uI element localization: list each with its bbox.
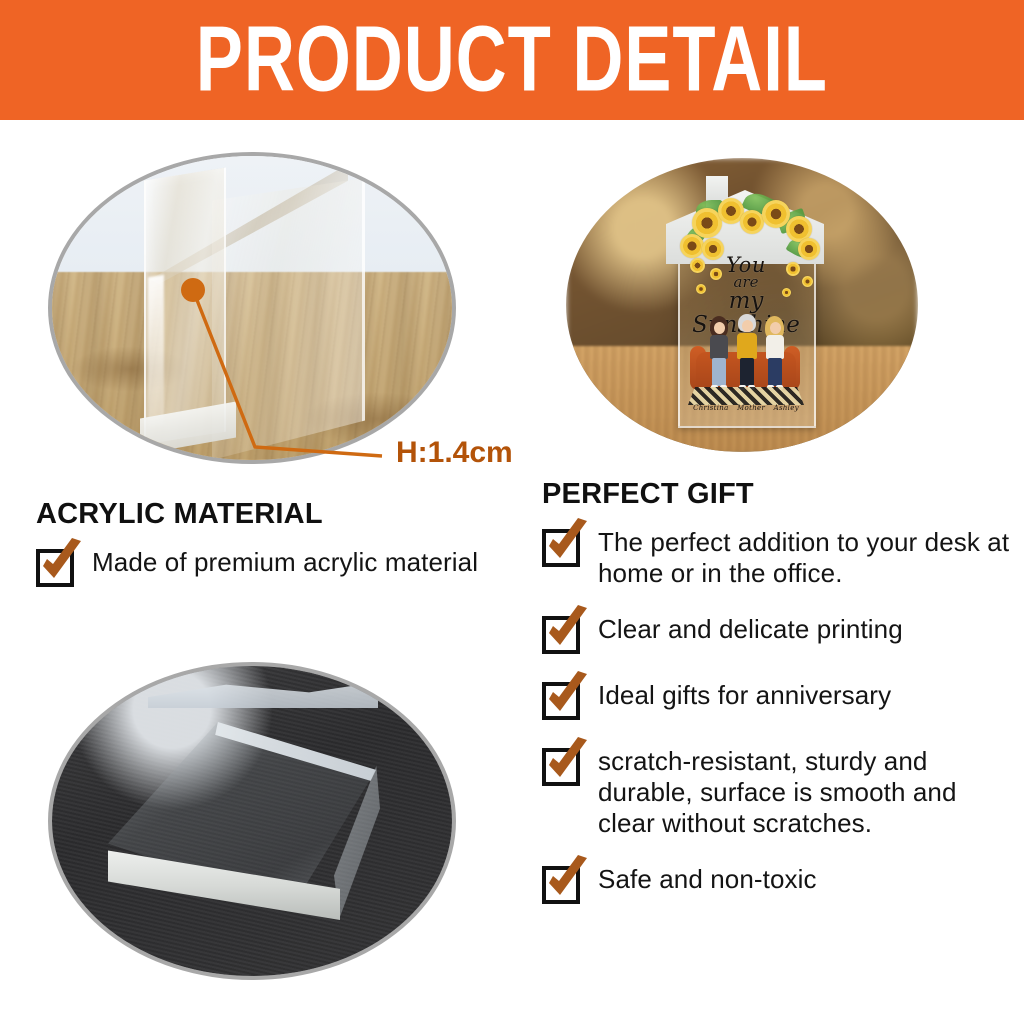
top xyxy=(766,335,784,359)
plaque-name-3: Ashley xyxy=(774,404,799,412)
section-perfect-gift: PERFECT GIFT The perfect addition to you… xyxy=(542,478,1012,930)
bullet-text: Made of premium acrylic material xyxy=(92,547,478,578)
rug xyxy=(688,387,804,405)
bullet-text: scratch-resistant, sturdy and durable, s… xyxy=(598,746,1012,838)
plaque-name-1: Christina xyxy=(693,404,728,412)
bullet-item: scratch-resistant, sturdy and durable, s… xyxy=(542,746,1012,838)
bullet-text: The perfect addition to your desk at hom… xyxy=(598,527,1012,588)
thickness-callout-dot xyxy=(181,278,205,302)
checkbox-checked[interactable] xyxy=(542,866,580,904)
bullet-item: Ideal gifts for anniversary xyxy=(542,680,1012,720)
plaque-names: Christina Mother Ashley xyxy=(680,404,812,412)
checkbox-checked[interactable] xyxy=(542,748,580,786)
checkmark-icon xyxy=(543,670,595,724)
section-acrylic-material: ACRYLIC MATERIAL Made of premium acrylic… xyxy=(36,498,528,613)
sunflower-house-plaque-photo: You are my Sunshine xyxy=(566,158,918,452)
acrylic-plaque: You are my Sunshine xyxy=(662,176,828,424)
checkmark-icon xyxy=(543,736,595,790)
checkmark-icon xyxy=(543,517,595,571)
legs xyxy=(712,358,726,386)
plaque-name-2: Mother xyxy=(737,404,765,412)
checkmark-icon xyxy=(543,604,595,658)
bullet-item: Clear and delicate printing xyxy=(542,614,1012,654)
checkbox-checked[interactable] xyxy=(542,529,580,567)
legs xyxy=(740,358,754,386)
checkbox-checked[interactable] xyxy=(36,549,74,587)
bullet-text: Safe and non-toxic xyxy=(598,864,817,895)
top xyxy=(737,333,757,359)
checkmark-icon xyxy=(37,537,89,591)
figure-left xyxy=(706,316,732,392)
bullet-text: Clear and delicate printing xyxy=(598,614,903,645)
sunflower xyxy=(740,210,764,234)
head xyxy=(770,322,781,334)
bullet-item: Safe and non-toxic xyxy=(542,864,1012,904)
bullet-text: Ideal gifts for anniversary xyxy=(598,680,891,711)
checkmark-icon xyxy=(543,854,595,908)
bullet-item: Made of premium acrylic material xyxy=(36,547,528,587)
section-heading-perfect-gift: PERFECT GIFT xyxy=(542,478,1012,511)
bullet-list-acrylic-material: Made of premium acrylic material xyxy=(36,547,528,587)
head xyxy=(714,322,725,334)
acrylic-block-on-slate-photo xyxy=(48,662,456,980)
section-heading-acrylic-material: ACRYLIC MATERIAL xyxy=(36,498,528,531)
checkbox-checked[interactable] xyxy=(542,682,580,720)
legs xyxy=(768,358,782,386)
top xyxy=(710,335,728,359)
checkbox-checked[interactable] xyxy=(542,616,580,654)
figure-right xyxy=(762,316,788,392)
bullet-list-perfect-gift: The perfect addition to your desk at hom… xyxy=(542,527,1012,904)
bullet-item: The perfect addition to your desk at hom… xyxy=(542,527,1012,588)
figure-center xyxy=(734,314,760,392)
head xyxy=(742,320,753,332)
thickness-callout-label: H:1.4cm xyxy=(396,436,513,470)
